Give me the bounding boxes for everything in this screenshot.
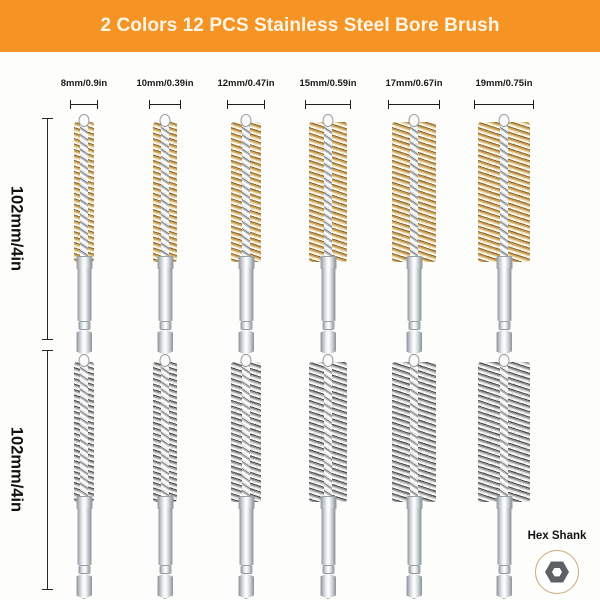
size-label: 15mm/0.59in (299, 78, 356, 89)
dimension-tick (264, 100, 265, 109)
dimension-tick (42, 350, 53, 351)
brush-bristle-head (153, 362, 177, 502)
dimension-tick (350, 100, 351, 109)
shank-hex-tip (238, 573, 254, 599)
size-label: 19mm/0.75in (475, 78, 532, 89)
shank-neck (408, 565, 420, 574)
width-dimension (70, 100, 98, 109)
brush-eyelet (499, 114, 510, 127)
twisted-wire-core (410, 362, 418, 502)
brush-bristle-head (74, 122, 94, 262)
dimension-tick (388, 100, 389, 109)
dimension-line (388, 104, 440, 105)
dimension-tick (227, 100, 228, 109)
size-label: 12mm/0.47in (217, 78, 274, 89)
shank-hex-tip (496, 329, 512, 355)
brush-bristle-head (309, 362, 347, 502)
shank-neck (498, 565, 510, 574)
hex-shank (320, 256, 337, 356)
shank-neck (78, 321, 90, 330)
hex-shank (238, 496, 255, 600)
brush-brass (74, 118, 94, 356)
dimension-tick (180, 100, 181, 109)
brush-stainless-steel (309, 358, 347, 600)
shank-rod (158, 268, 172, 321)
brush-bristle-head (74, 362, 94, 502)
length-dimension-label: 102mm/4in (7, 179, 26, 279)
shank-hex-tip (406, 329, 422, 355)
shank-hex-tip (238, 329, 254, 355)
hex-shank (406, 496, 423, 600)
shank-hex-tip (157, 329, 173, 355)
brush-eyelet (323, 114, 334, 127)
size-label: 17mm/0.67in (385, 78, 442, 89)
length-dimension (42, 118, 53, 340)
dimension-line (305, 104, 351, 105)
brush-stainless-steel (153, 358, 177, 600)
shank-rod (239, 268, 253, 321)
twisted-wire-core (242, 122, 250, 262)
length-dimension (42, 350, 53, 590)
twisted-wire-core (242, 362, 250, 502)
brush-eyelet (241, 114, 252, 127)
shank-neck (408, 321, 420, 330)
brush-eyelet (160, 354, 171, 367)
dimension-line (227, 104, 265, 105)
size-label: 10mm/0.39in (136, 78, 193, 89)
shank-hex-tip (320, 573, 336, 599)
brush-eyelet (79, 354, 90, 367)
shank-neck (322, 321, 334, 330)
shank-hex-tip (76, 573, 92, 599)
header-banner: 2 Colors 12 PCS Stainless Steel Bore Bru… (0, 0, 600, 52)
brush-brass (231, 118, 261, 356)
width-dimension (227, 100, 265, 109)
width-dimension (305, 100, 351, 109)
brush-brass (309, 118, 347, 356)
shank-neck (159, 565, 171, 574)
brush-bristle-head (392, 362, 436, 502)
brush-bristle-head (231, 122, 261, 262)
width-dimension (474, 100, 534, 109)
twisted-wire-core (410, 122, 418, 262)
brush-bristle-head (231, 362, 261, 502)
shank-neck (240, 321, 252, 330)
brush-stainless-steel (392, 358, 436, 600)
dimension-line (47, 118, 48, 340)
twisted-wire-core (500, 122, 508, 262)
shank-rod (77, 508, 91, 565)
brush-eyelet (79, 114, 90, 127)
brush-eyelet (409, 114, 420, 127)
brush-eyelet (409, 354, 420, 367)
dimension-tick (97, 100, 98, 109)
width-dimension (388, 100, 440, 109)
hex-shank (238, 256, 255, 356)
hex-shank (76, 496, 93, 600)
hex-shank (496, 256, 513, 356)
dimension-tick (439, 100, 440, 109)
brush-bristle-head (478, 362, 530, 502)
dimension-line (474, 104, 534, 105)
shank-rod (239, 508, 253, 565)
shank-rod (321, 268, 335, 321)
twisted-wire-core (80, 122, 88, 262)
dimension-tick (42, 118, 53, 119)
brush-eyelet (499, 354, 510, 367)
hex-shank (76, 256, 93, 356)
shank-hex-tip (320, 329, 336, 355)
shank-neck (159, 321, 171, 330)
dimension-line (70, 104, 98, 105)
shank-rod (407, 268, 421, 321)
width-dimension (149, 100, 181, 109)
page-title: 2 Colors 12 PCS Stainless Steel Bore Bru… (100, 15, 499, 37)
dimension-line (149, 104, 181, 105)
twisted-wire-core (80, 362, 88, 502)
dimension-tick (305, 100, 306, 109)
brush-stainless-steel (478, 358, 530, 600)
shank-rod (497, 508, 511, 565)
hex-shank (406, 256, 423, 356)
brush-bristle-head (153, 122, 177, 262)
shank-rod (407, 508, 421, 565)
brush-bristle-head (478, 122, 530, 262)
shank-hex-tip (157, 573, 173, 599)
dimension-line (47, 350, 48, 590)
twisted-wire-core (324, 362, 332, 502)
brush-brass (478, 118, 530, 356)
shank-hex-tip (406, 573, 422, 599)
dimension-tick (149, 100, 150, 109)
shank-hex-tip (496, 573, 512, 599)
size-label: 8mm/0.9in (61, 78, 107, 89)
shank-rod (497, 268, 511, 321)
brush-bristle-head (309, 122, 347, 262)
brush-eyelet (323, 354, 334, 367)
twisted-wire-core (324, 122, 332, 262)
product-infographic: 2 Colors 12 PCS Stainless Steel Bore Bru… (0, 0, 600, 600)
shank-rod (77, 268, 91, 321)
shank-rod (158, 508, 172, 565)
hex-shank (320, 496, 337, 600)
hex-shank (496, 496, 513, 600)
shank-neck (78, 565, 90, 574)
hex-shank-label: Hex Shank (528, 530, 587, 542)
brush-brass (392, 118, 436, 356)
hex-shank-icon (535, 550, 579, 594)
brush-stainless-steel (74, 358, 94, 600)
twisted-wire-core (161, 122, 169, 262)
dimension-tick (533, 100, 534, 109)
brush-eyelet (241, 354, 252, 367)
brush-stainless-steel (231, 358, 261, 600)
shank-neck (498, 321, 510, 330)
shank-neck (240, 565, 252, 574)
twisted-wire-core (500, 362, 508, 502)
dimension-tick (42, 589, 53, 590)
dimension-tick (42, 339, 53, 340)
dimension-tick (474, 100, 475, 109)
hex-shank (157, 256, 174, 356)
dimension-tick (70, 100, 71, 109)
brush-brass (153, 118, 177, 356)
shank-hex-tip (76, 329, 92, 355)
brush-eyelet (160, 114, 171, 127)
shank-rod (321, 508, 335, 565)
shank-neck (322, 565, 334, 574)
brush-bristle-head (392, 122, 436, 262)
length-dimension-label: 102mm/4in (7, 420, 26, 520)
hex-shank (157, 496, 174, 600)
twisted-wire-core (161, 362, 169, 502)
